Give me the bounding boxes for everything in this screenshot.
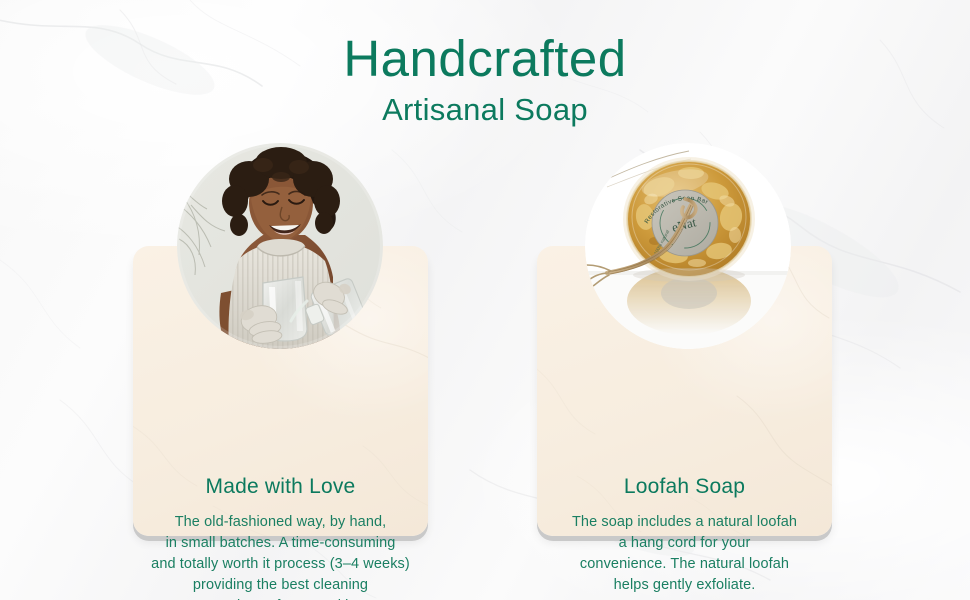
poster-canvas: Handcrafted Artisanal Soap Made with Lov… <box>0 0 970 600</box>
card-body-line: The soap includes a natural loofah <box>545 512 824 533</box>
card-body: The soap includes a natural loofah a han… <box>545 512 824 596</box>
card-body-line: convenience. The natural loofah <box>545 554 824 575</box>
artisan-pouring-photo <box>177 143 383 349</box>
card-body: The old-fashioned way, by hand, in small… <box>141 512 420 600</box>
card-body-line: helps gently exfoliate. <box>545 575 824 596</box>
card-body-line: providing the best cleaning <box>141 575 420 596</box>
card-body-line: in small batches. A time-consuming <box>141 533 420 554</box>
poster-header: Handcrafted Artisanal Soap <box>0 0 970 130</box>
loofah-soap-illustration: Restorative Soap Bar eNat 100% natural <box>585 143 791 349</box>
card-body-line: The old-fashioned way, by hand, <box>141 512 420 533</box>
page-subtitle: Artisanal Soap <box>0 90 970 130</box>
feature-cards: Made with Love The old-fashioned way, by… <box>0 143 970 553</box>
page-title: Handcrafted <box>0 30 970 88</box>
card-body-line: and totally worth it process (3–4 weeks) <box>141 554 420 575</box>
artisan-pouring-illustration <box>177 143 383 349</box>
card-body-line: a hang cord for your <box>545 533 824 554</box>
card-title: Loofah Soap <box>537 474 832 500</box>
loofah-soap-photo: Restorative Soap Bar eNat 100% natural <box>585 143 791 349</box>
card-title: Made with Love <box>133 474 428 500</box>
card-body-line: experience for your skin. <box>141 596 420 600</box>
